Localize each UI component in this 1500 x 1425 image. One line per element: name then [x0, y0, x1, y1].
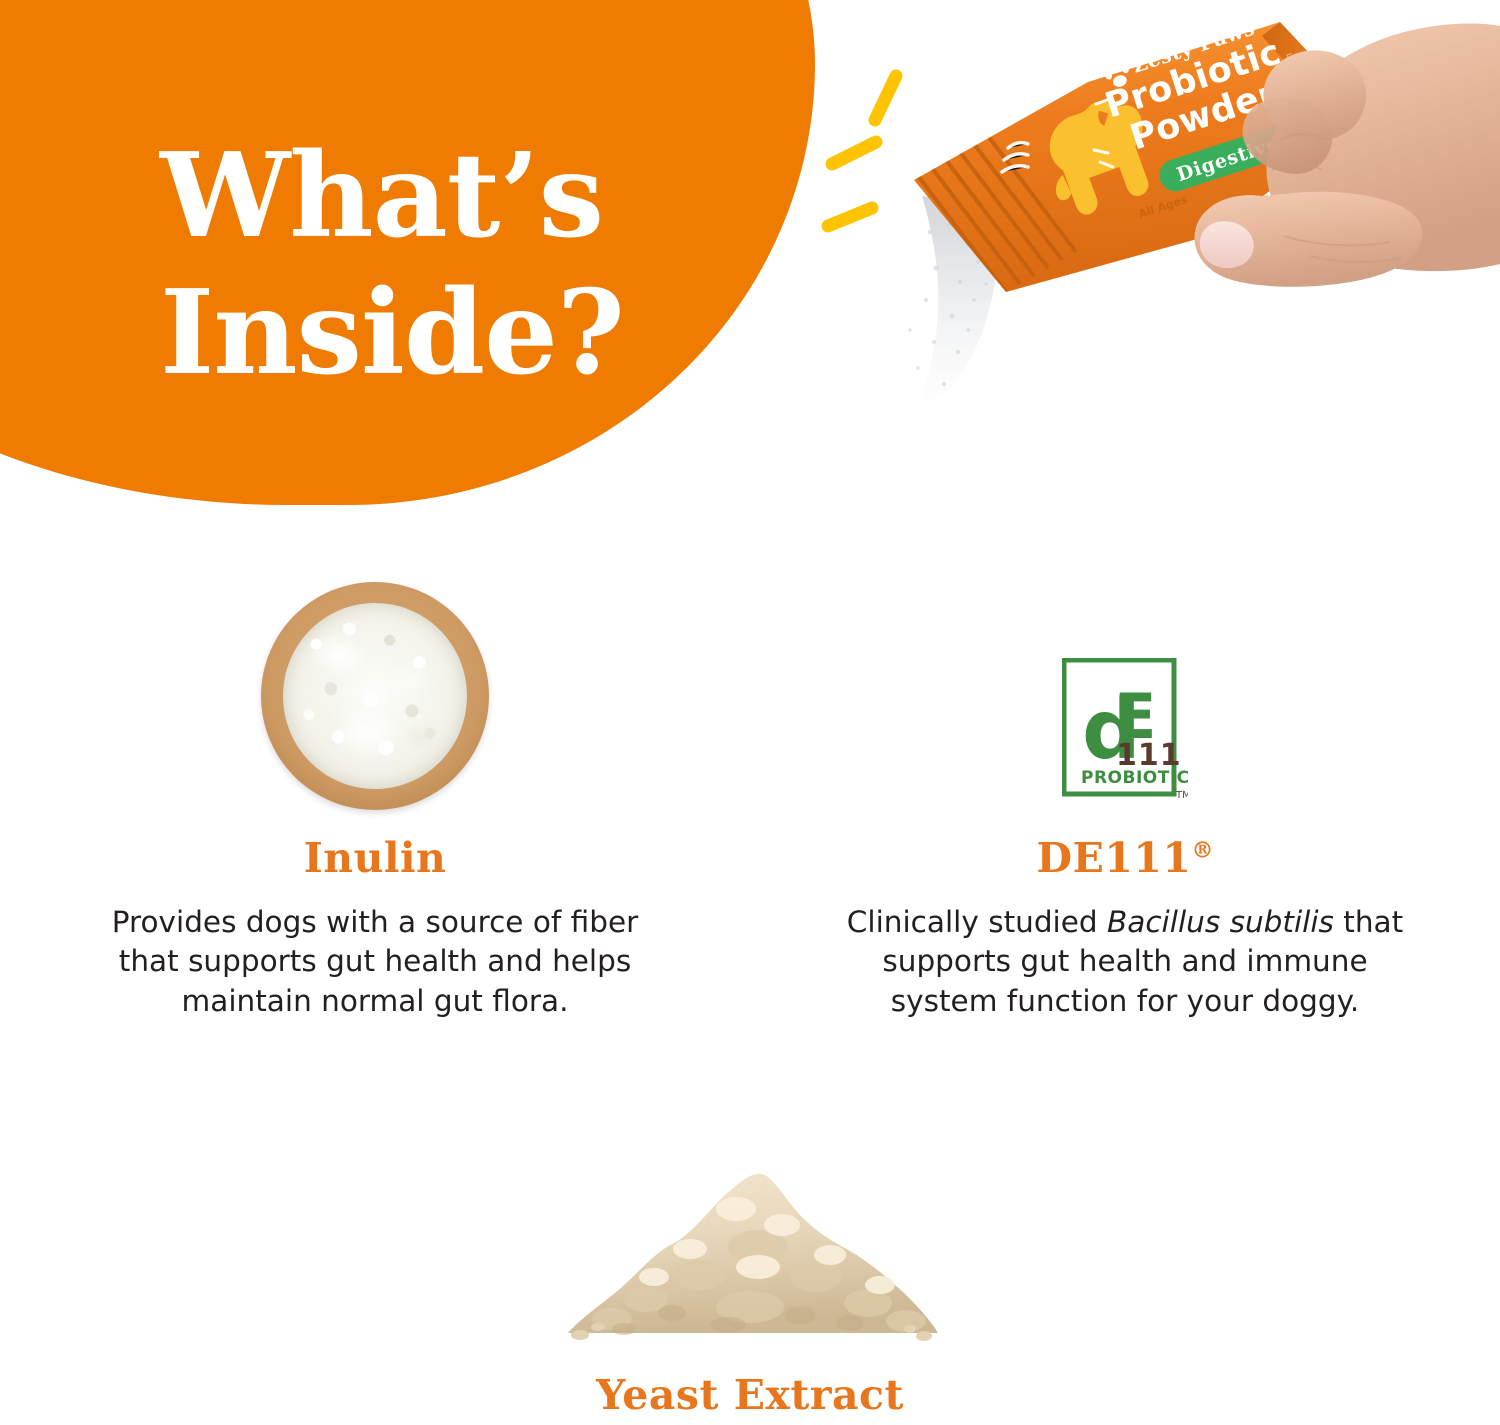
de111-probiotic-label: PROBIOTIC: [1081, 768, 1188, 788]
inulin-art: [90, 540, 660, 810]
sparkle-burst-icon: [828, 76, 896, 226]
page-title: What’s Inside?: [160, 128, 624, 402]
ingredient-card-yeast-extract: Yeast Extract Helps maintain a healthy i…: [370, 1077, 1130, 1425]
infographic-page: What’s Inside?: [0, 0, 1500, 1425]
de111-art: d E 111 PROBIOTIC TM: [830, 540, 1420, 810]
de111-desc-italic: Bacillus subtilis: [1107, 905, 1334, 939]
ingredient-title-yeast-extract: Yeast Extract: [410, 1373, 1090, 1418]
de111-name: DE111: [1037, 834, 1192, 882]
trademark-icon: TM: [1175, 790, 1188, 801]
registered-trademark-icon: ®: [1191, 837, 1213, 863]
ingredient-card-inulin: Inulin Provides dogs with a source of fi…: [0, 540, 750, 1021]
ingredients-row-1: Inulin Provides dogs with a source of fi…: [0, 540, 1500, 1021]
ingredient-description-de111: Clinically studied Bacillus subtilis tha…: [830, 903, 1420, 1021]
white-powder: [283, 603, 468, 790]
de111-desc-part1: Clinically studied: [847, 905, 1107, 939]
ingredients-row-2: Yeast Extract Helps maintain a healthy i…: [0, 1077, 1500, 1425]
ingredients-section: Inulin Provides dogs with a source of fi…: [0, 540, 1500, 1425]
powder-pile-icon: [550, 1137, 950, 1347]
yeast-extract-art: [410, 1077, 1090, 1347]
packet-svg: Zesty Paws Probiotic Powder Digestive He…: [810, 0, 1500, 540]
wooden-bowl-icon: [261, 582, 489, 810]
ingredient-card-de111: d E 111 PROBIOTIC TM DE111®: [750, 540, 1500, 1021]
ingredient-title-de111: DE111®: [830, 836, 1420, 881]
ingredient-description-inulin: Provides dogs with a source of fiber tha…: [90, 903, 660, 1021]
hand-holding-packet-illustration: Zesty Paws Probiotic Powder Digestive He…: [810, 0, 1500, 540]
ingredient-title-inulin: Inulin: [90, 836, 660, 881]
de111-certification-logo: d E 111 PROBIOTIC TM: [1062, 658, 1188, 810]
